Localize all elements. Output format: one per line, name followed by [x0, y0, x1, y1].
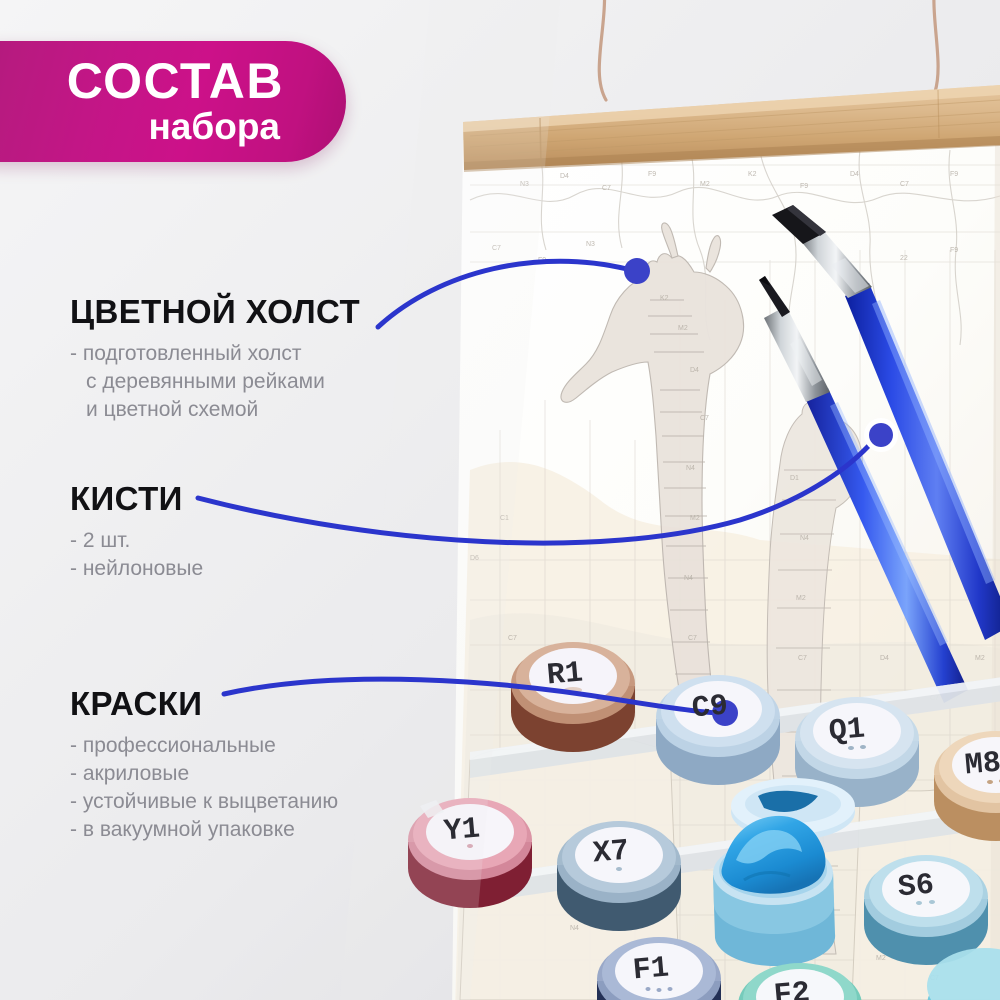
feature-list-brushes: - 2 шт. - нейлоновые — [70, 527, 203, 583]
list-item: - профессиональные — [70, 732, 338, 760]
svg-text:M2: M2 — [975, 655, 985, 662]
poster-stage: N3D4C7 F9M2K2 F9D4C7 F9 C7F9N3 22F9 K2M2… — [0, 0, 1000, 1000]
feature-block-paints: КРАСКИ - профессиональные - акриловые - … — [70, 685, 338, 844]
svg-text:M2: M2 — [876, 955, 886, 962]
svg-text:N4: N4 — [686, 465, 695, 472]
svg-text:D4: D4 — [850, 171, 859, 178]
section-badge: СОСТАВ набора — [0, 41, 346, 162]
list-item: - устойчивые к выцветанию — [70, 788, 338, 816]
list-item: - 2 шт. — [70, 527, 203, 555]
feature-block-brushes: КИСТИ - 2 шт. - нейлоновые — [70, 480, 203, 583]
svg-text:C7: C7 — [900, 181, 909, 188]
list-item: - подготовленный холст — [70, 340, 360, 368]
svg-text:C7: C7 — [688, 635, 697, 642]
list-item: с деревянными рейками — [70, 368, 360, 396]
feature-title-brushes: КИСТИ — [70, 480, 203, 518]
svg-text:N3: N3 — [586, 241, 595, 248]
svg-text:F9: F9 — [648, 171, 656, 178]
svg-text:F9: F9 — [800, 183, 808, 190]
svg-text:M2: M2 — [700, 181, 710, 188]
badge-line1: СОСТАВ — [67, 56, 284, 106]
svg-text:M2: M2 — [796, 595, 806, 602]
svg-text:F9: F9 — [950, 247, 958, 254]
svg-text:F9: F9 — [538, 257, 546, 264]
feature-title-paints: КРАСКИ — [70, 685, 338, 723]
paint-pot-s6 — [864, 855, 988, 965]
svg-text:M2: M2 — [690, 515, 700, 522]
list-item: - нейлоновые — [70, 555, 203, 583]
svg-text:K2: K2 — [748, 171, 757, 178]
svg-text:D4: D4 — [880, 655, 889, 662]
list-item: и цветной схемой — [70, 396, 360, 424]
list-item-text: и цветной схемой — [70, 396, 258, 424]
svg-text:D4: D4 — [690, 367, 699, 374]
svg-text:F9: F9 — [950, 171, 958, 178]
paint-pot-c9 — [656, 675, 780, 785]
paint-pot-x7 — [557, 821, 681, 931]
list-item: - в вакуумной упаковке — [70, 816, 338, 844]
paint-pot-r1 — [511, 642, 635, 752]
list-item: - акриловые — [70, 760, 338, 788]
svg-text:C7: C7 — [798, 655, 807, 662]
feature-list-canvas: - подготовленный холст с деревянными рей… — [70, 340, 360, 424]
svg-text:22: 22 — [900, 255, 908, 262]
svg-text:N4: N4 — [800, 535, 809, 542]
feature-list-paints: - профессиональные - акриловые - устойчи… — [70, 732, 338, 844]
svg-text:M2: M2 — [678, 325, 688, 332]
svg-text:N4: N4 — [570, 925, 579, 932]
svg-text:N4: N4 — [684, 575, 693, 582]
svg-text:C7: C7 — [602, 185, 611, 192]
feature-block-canvas: ЦВЕТНОЙ ХОЛСТ - подготовленный холст с д… — [70, 293, 360, 424]
badge-line2: набора — [148, 107, 280, 147]
svg-text:C7: C7 — [508, 635, 517, 642]
svg-text:K2: K2 — [660, 295, 669, 302]
feature-title-canvas: ЦВЕТНОЙ ХОЛСТ — [70, 293, 360, 331]
svg-text:C7: C7 — [700, 415, 709, 422]
svg-text:D4: D4 — [560, 173, 569, 180]
list-item-text: с деревянными рейками — [70, 368, 325, 396]
svg-text:D1: D1 — [790, 475, 799, 482]
